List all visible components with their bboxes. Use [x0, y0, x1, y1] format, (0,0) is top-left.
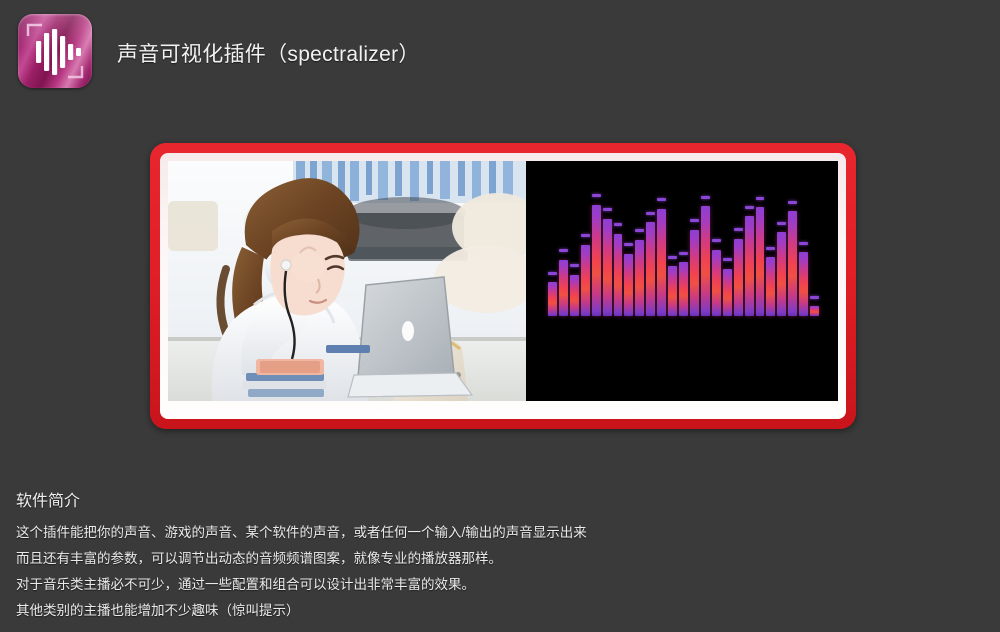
photo-illustration: [168, 161, 526, 401]
spectrum-bar-peak: [668, 256, 677, 259]
spectrum-bar: [592, 191, 601, 316]
spectrum-bar-peak: [777, 222, 786, 225]
spectrum-bar-peak: [614, 223, 623, 226]
spectrum-bar-body: [614, 234, 623, 317]
spectrum-bar-peak: [548, 272, 557, 275]
spectrum-bar-peak: [766, 247, 775, 250]
spectrum-bar: [712, 191, 721, 316]
waveform-icon: [18, 14, 92, 88]
description-line: 其他类别的主播也能增加不少趣味（惊叫提示）: [16, 598, 876, 624]
spectrum-bar: [788, 191, 797, 316]
spectrum-bar: [701, 191, 710, 316]
spectrum-bar: [614, 191, 623, 316]
spectrum-bar: [766, 191, 775, 316]
description-line: 对于音乐类主播必不可少，通过一些配置和组合可以设计出非常丰富的效果。: [16, 572, 876, 598]
spectrum-bar-peak: [581, 234, 590, 237]
spectrum-bar-peak: [603, 208, 612, 211]
software-description: 软件简介 这个插件能把你的声音、游戏的声音、某个软件的声音，或者任何一个输入/输…: [16, 487, 876, 624]
spectrum-bar: [756, 191, 765, 316]
spectrum-bar: [745, 191, 754, 316]
spectrum-bar-body: [668, 266, 677, 316]
spectrum-bar-body: [766, 257, 775, 316]
spectrum-bar-peak: [810, 296, 819, 299]
spectrum-bar-body: [635, 240, 644, 316]
spectrum-bar-peak: [570, 264, 579, 267]
spectrum-bar-body: [592, 205, 601, 316]
spectrum-bar-body: [745, 216, 754, 316]
spectrum-bar-body: [559, 260, 568, 316]
spectrum-bar-body: [624, 254, 633, 317]
preview-frame: [150, 143, 856, 429]
spectrum-bar: [777, 191, 786, 316]
spectrum-bar: [690, 191, 699, 316]
spectrum-bar-body: [690, 230, 699, 316]
spectrum-bar-body: [657, 209, 666, 317]
tired-student-photo: [168, 161, 526, 401]
spectrum-bar-body: [788, 211, 797, 316]
spectrum-bar-body: [603, 219, 612, 317]
spectrum-bar-body: [570, 275, 579, 316]
spectrum-bar: [581, 191, 590, 316]
spectrum-bar: [646, 191, 655, 316]
preview-content: [168, 161, 838, 401]
spectrum-bar: [657, 191, 666, 316]
spectrum-bar-peak: [734, 228, 743, 231]
spectrum-bar-body: [723, 269, 732, 317]
spectrum-bar: [821, 191, 830, 316]
spectrum-bar-body: [646, 222, 655, 316]
spectrum-bar-body: [701, 206, 710, 316]
spectrum-bar-peak: [712, 239, 721, 242]
spectrum-bar-peak: [701, 196, 710, 199]
spectrum-bar: [723, 191, 732, 316]
spectrum-bar-peak: [559, 249, 568, 252]
spectrum-bar-peak: [723, 258, 732, 261]
description-line: 这个插件能把你的声音、游戏的声音、某个软件的声音，或者任何一个输入/输出的声音显…: [16, 520, 876, 546]
spectrum-bar: [570, 191, 579, 316]
spectrum-bar: [635, 191, 644, 316]
spectrum-bar-peak: [690, 219, 699, 222]
spectrum-bar-body: [679, 262, 688, 316]
spectrum-bar-peak: [788, 201, 797, 204]
audio-spectrum-panel: [526, 161, 838, 401]
spectrum-bar-body: [548, 282, 557, 316]
spectrum-bar: [603, 191, 612, 316]
spectrum-bar-body: [712, 250, 721, 316]
spectrum-bar-peak: [745, 206, 754, 209]
description-heading: 软件简介: [16, 487, 876, 511]
spectrum-bar-peak: [799, 242, 808, 245]
spectrum-bar-body: [581, 245, 590, 316]
page-title: 声音可视化插件（spectralizer）: [117, 38, 420, 68]
spectrum-bar: [548, 191, 557, 316]
spectrum-bar-peak: [646, 212, 655, 215]
spectrum-bar: [799, 191, 808, 316]
spectrum-bar-peak: [592, 194, 601, 197]
spectrum-bar: [624, 191, 633, 316]
spectralizer-app-icon: [18, 14, 92, 88]
spectrum-bar-peak: [624, 243, 633, 246]
spectrum-bars: [548, 191, 830, 316]
spectrum-bar: [734, 191, 743, 316]
spectrum-bar-peak: [657, 198, 666, 201]
spectrum-bar-peak: [756, 197, 765, 200]
spectrum-bar-body: [810, 306, 819, 316]
spectrum-bar-peak: [635, 229, 644, 232]
spectrum-bar-body: [799, 252, 808, 316]
page-header: 声音可视化插件（spectralizer）: [0, 0, 1000, 108]
preview-inner-mat: [160, 153, 846, 419]
spectrum-bar-peak: [679, 252, 688, 255]
spectrum-bar: [668, 191, 677, 316]
spectrum-bar-body: [734, 239, 743, 317]
spectrum-bar-body: [756, 207, 765, 316]
spectrum-bar: [559, 191, 568, 316]
spectrum-bar: [679, 191, 688, 316]
spectrum-bar: [810, 191, 819, 316]
description-line: 而且还有丰富的参数，可以调节出动态的音频频谱图案，就像专业的播放器那样。: [16, 546, 876, 572]
spectrum-bar-body: [777, 232, 786, 316]
